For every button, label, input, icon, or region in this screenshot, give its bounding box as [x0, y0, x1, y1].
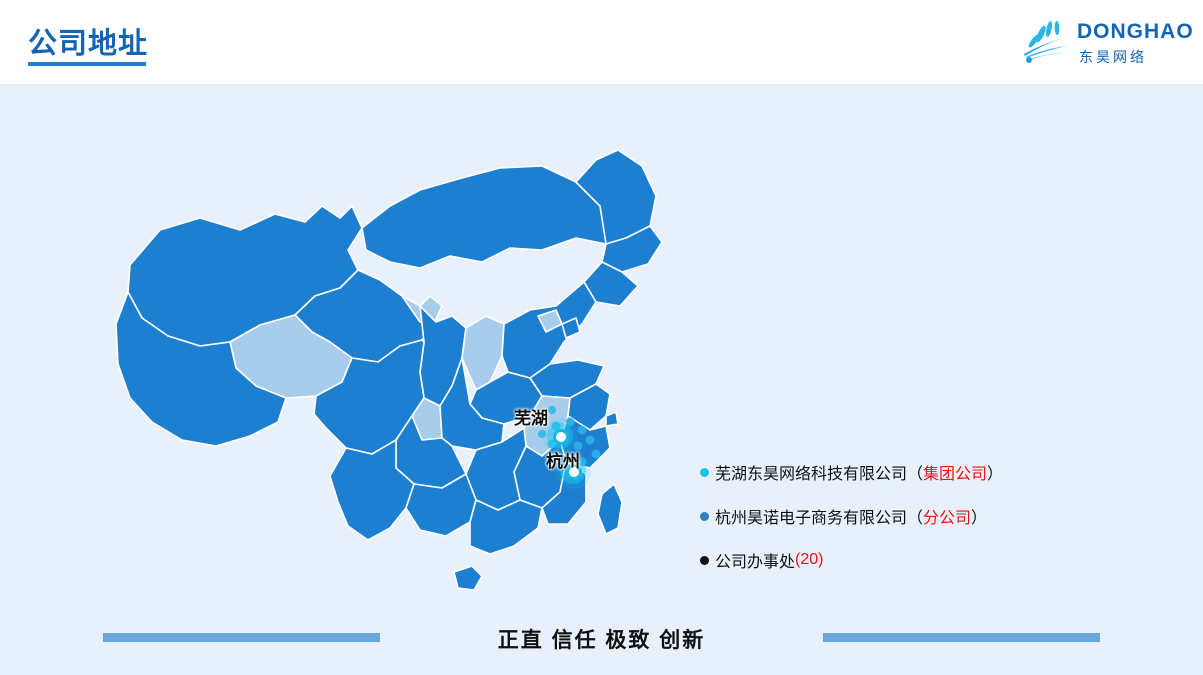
slide-root: 公司地址 DONGHAO 东昊网络 [0, 0, 1203, 675]
china-map-svg [90, 110, 710, 610]
logo-wordmark: DONGHAO [1077, 20, 1194, 44]
map-label-hangzhou: 杭州 [546, 447, 580, 472]
blue-dot-icon [700, 512, 709, 521]
legend-tail-branch: ） [971, 504, 987, 528]
footer-bar-right [823, 633, 1100, 642]
legend-tail-group: ） [987, 460, 1003, 484]
black-dot-icon [700, 556, 709, 565]
title-underline [28, 62, 146, 66]
legend-accent-group: 集团公司 [923, 460, 987, 484]
legend-item-offices: 公司办事处 (20) [700, 548, 1170, 572]
map-label-wuhu: 芜湖 [514, 404, 548, 429]
logo-subtitle: 东昊网络 [1079, 47, 1147, 67]
page-title: 公司地址 [28, 20, 148, 62]
legend-item-branch-company: 杭州昊诺电子商务有限公司（ 分公司 ） [700, 504, 1170, 528]
legend-text-branch: 杭州昊诺电子商务有限公司（ [715, 504, 923, 528]
legend-text-group: 芜湖东昊网络科技有限公司（ [715, 460, 923, 484]
legend-text-offices: 公司办事处 [715, 548, 795, 572]
cyan-dot-icon [700, 468, 709, 477]
legend-item-group-company: 芜湖东昊网络科技有限公司（ 集团公司 ） [700, 460, 1170, 484]
slide-header: 公司地址 DONGHAO 东昊网络 [0, 0, 1203, 84]
logo-burst-icon [1019, 16, 1073, 64]
wuhu-marker[interactable] [553, 429, 569, 445]
china-map: 芜湖 杭州 [90, 110, 710, 610]
legend-list: 芜湖东昊网络科技有限公司（ 集团公司 ） 杭州昊诺电子商务有限公司（ 分公司 ）… [700, 460, 1170, 592]
legend-accent-offices: (20) [795, 551, 823, 569]
legend-accent-branch: 分公司 [923, 504, 971, 528]
brand-logo: DONGHAO 东昊网络 [1019, 12, 1179, 72]
